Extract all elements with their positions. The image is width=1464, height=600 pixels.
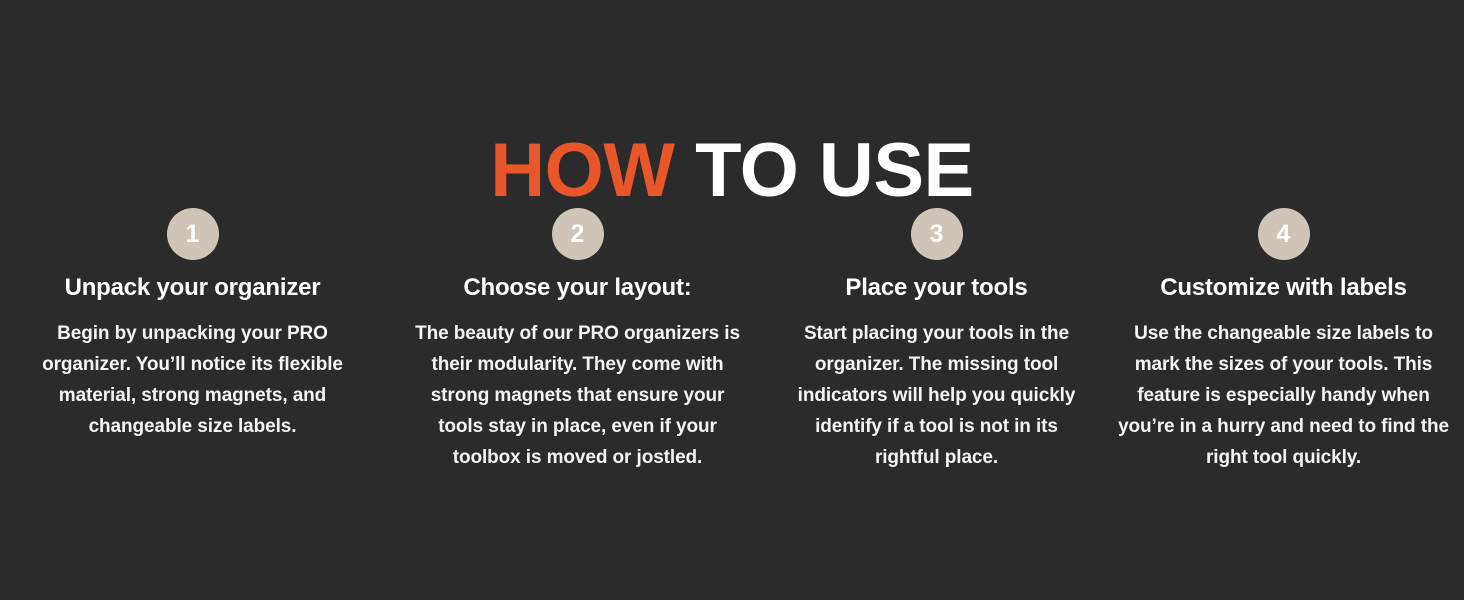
step-item-4: 4 Customize with labels Use the changeab… — [1103, 208, 1464, 473]
how-to-use-section: HOW TO USE 1 Unpack your organizer Begin… — [0, 0, 1464, 600]
page-title-accent: HOW — [490, 128, 674, 213]
step-item-1: 1 Unpack your organizer Begin by unpacki… — [0, 208, 385, 442]
step-number-badge-3: 3 — [911, 208, 963, 260]
step-heading-4: Customize with labels — [1160, 274, 1407, 302]
page-title-rest: TO USE — [675, 128, 974, 213]
step-body-2: The beauty of our PRO organizers is thei… — [410, 318, 745, 473]
step-number-badge-1: 1 — [167, 208, 219, 260]
step-item-2: 2 Choose your layout: The beauty of our … — [385, 208, 770, 473]
step-body-3: Start placing your tools in the organize… — [786, 318, 1087, 473]
step-heading-1: Unpack your organizer — [65, 274, 321, 302]
steps-list: 1 Unpack your organizer Begin by unpacki… — [0, 208, 1464, 473]
step-item-3: 3 Place your tools Start placing your to… — [770, 208, 1103, 473]
step-heading-3: Place your tools — [845, 274, 1027, 302]
step-number-badge-2: 2 — [552, 208, 604, 260]
step-heading-2: Choose your layout: — [463, 274, 691, 302]
step-body-4: Use the changeable size labels to mark t… — [1115, 318, 1452, 473]
page-title-text: HOW TO USE — [490, 133, 973, 209]
step-number-badge-4: 4 — [1258, 208, 1310, 260]
step-body-1: Begin by unpacking your PRO organizer. Y… — [24, 318, 361, 442]
